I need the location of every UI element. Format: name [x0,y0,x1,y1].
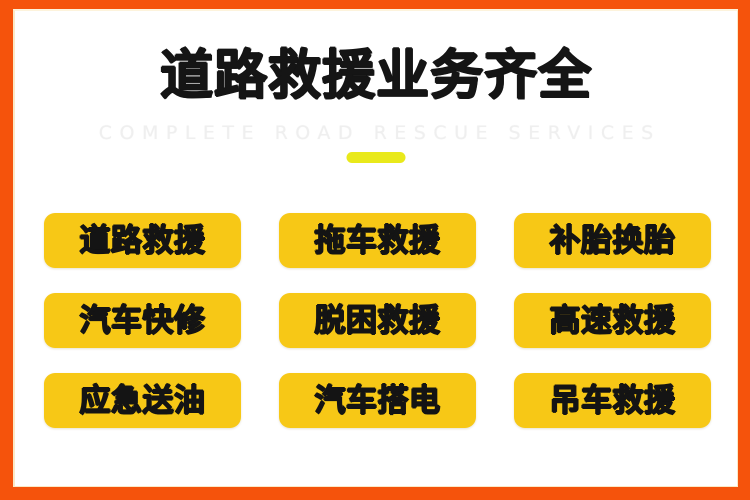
service-chip-label: 脱困救援 [315,304,441,338]
service-chip-tire-repair-replace[interactable]: 补胎换胎 [514,213,711,268]
service-chip-label: 拖车救援 [315,224,441,258]
service-chip-extrication-rescue[interactable]: 脱困救援 [279,293,476,348]
service-chip-road-rescue[interactable]: 道路救援 [44,213,241,268]
service-chip-emergency-fuel-delivery[interactable]: 应急送油 [44,373,241,428]
service-chip-label: 吊车救援 [550,384,676,418]
service-chip-crane-rescue[interactable]: 吊车救援 [514,373,711,428]
service-chip-quick-car-repair[interactable]: 汽车快修 [44,293,241,348]
service-chip-highway-rescue[interactable]: 高速救援 [514,293,711,348]
service-chip-label: 汽车快修 [80,304,206,338]
service-chip-jump-start[interactable]: 汽车搭电 [279,373,476,428]
poster-card: 道路救援业务齐全 COMPLETE ROAD RESCUE SERVICES 道… [13,9,738,487]
service-chip-label: 汽车搭电 [315,384,441,418]
poster-root: 道路救援业务齐全 COMPLETE ROAD RESCUE SERVICES 道… [0,0,750,500]
service-chip-label: 补胎换胎 [550,224,676,258]
service-chip-label: 高速救援 [550,304,676,338]
page-title: 道路救援业务齐全 [15,47,737,105]
title-underline-accent [347,152,406,163]
service-chip-grid: 道路救援 拖车救援 补胎换胎 汽车快修 脱困救援 高速救援 应急送油 汽车搭电 [44,213,711,428]
page-subtitle: COMPLETE ROAD RESCUE SERVICES [15,121,737,145]
service-chip-tow-rescue[interactable]: 拖车救援 [279,213,476,268]
service-chip-label: 应急送油 [80,384,206,418]
service-chip-label: 道路救援 [80,224,206,258]
